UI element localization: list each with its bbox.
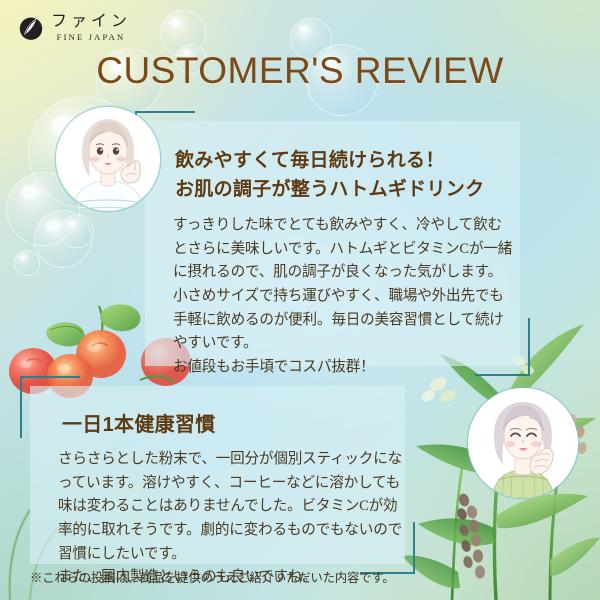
review-heading: 飲みやすくて毎日続けられる！ お肌の調子が整うハトムギドリンク (175, 147, 484, 204)
avatar-illustration-icon (468, 388, 578, 498)
woman-pointing-finger-avatar (56, 107, 160, 211)
review-body: すっきりした味でとても飲みやすく、冷やして飲むとさらに美味しいです。ハトムギとビ… (173, 214, 513, 379)
brand-logo-text: ファイン FINE JAPAN (51, 14, 131, 42)
review-paragraph: すっきりした味でとても飲みやすく、冷やして飲むとさらに美味しいです。ハトムギとビ… (173, 214, 513, 285)
brand-name-en: FINE JAPAN (51, 33, 131, 42)
bubble-decoration (14, 250, 40, 276)
avatar-illustration-icon (56, 107, 160, 211)
review-paragraph: 小さめサイズで持ち運びやすく、職場や外出先でも手軽に飲めるのが便利。毎日の美容習… (173, 285, 513, 356)
review-card: 飲みやすくて毎日続けられる！ お肌の調子が整うハトムギドリンク すっきりした味で… (145, 121, 520, 366)
review-page: ファイン FINE JAPAN CUSTOMER'S REVIEW (0, 0, 600, 600)
page-title: CUSTOMER'S REVIEW (0, 50, 600, 92)
brand-name-jp: ファイン (51, 14, 131, 30)
review-card: 一日1本健康習慣 さらさらとした粉末で、一回分が個別スティックになっています。溶… (30, 386, 405, 564)
review-paragraph: さらさらとした粉末で、一回分が個別スティックになっています。溶けやすく、コーヒー… (58, 448, 403, 566)
review-heading-line1: 飲みやすくて毎日続けられる！ (175, 147, 484, 176)
fine-japan-seed-mark-icon (17, 14, 45, 42)
brand-logo: ファイン FINE JAPAN (17, 14, 131, 42)
bubble-decoration (60, 214, 94, 248)
review-heading-line1: 一日1本健康習慣 (62, 410, 216, 440)
disclaimer-note: ※これらの投稿は、商品を提供のうえご紹介いただいた内容です。 (30, 568, 394, 586)
review-heading-line2: お肌の調子が整うハトムギドリンク (175, 176, 484, 205)
woman-hand-on-cheek-avatar (468, 388, 578, 498)
review-heading: 一日1本健康習慣 (62, 410, 216, 440)
review-paragraph: お値段もお手頃でコスパ抜群！ (173, 356, 513, 380)
